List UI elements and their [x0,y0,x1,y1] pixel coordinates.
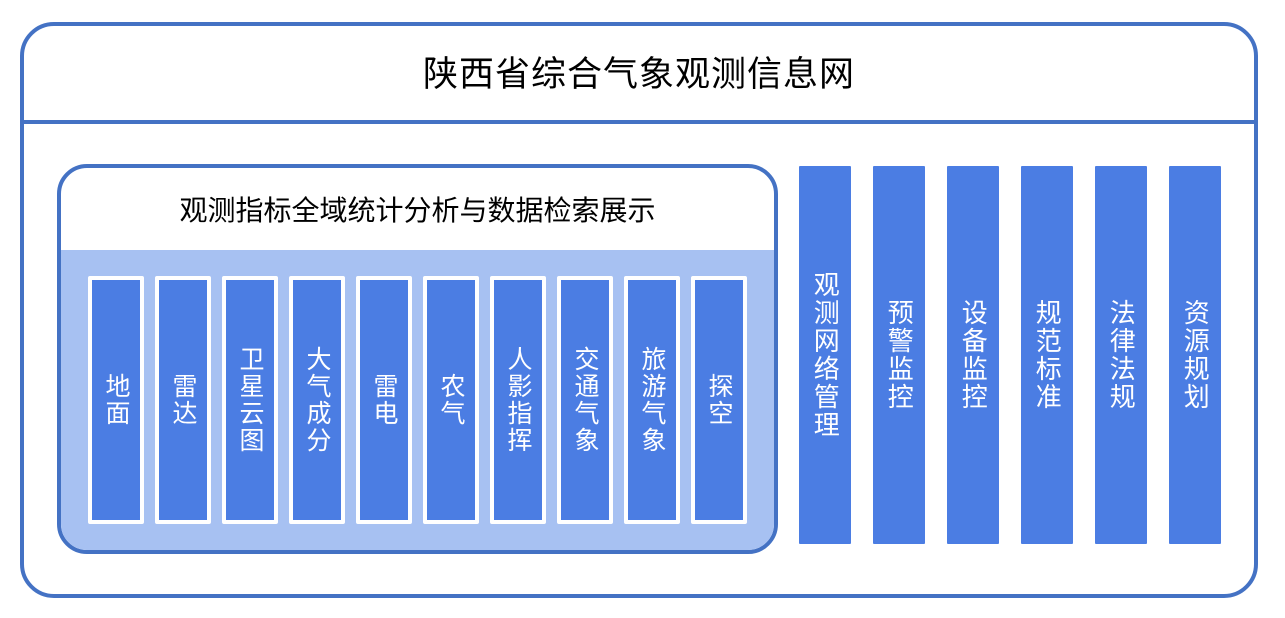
support-module-specification-standards[interactable]: 规范标准 [1021,166,1073,544]
observation-item-upper-air-sounding[interactable]: 探空 [691,276,747,524]
support-module-label: 设备监控 [959,299,988,411]
support-module-label: 观测网络管理 [811,271,840,439]
observation-analysis-panel: 观测指标全域统计分析与数据检索展示 地面 雷达 卫星云图 大气成分 雷电 农气 … [57,164,778,554]
observation-item-label: 人影指挥 [504,346,532,454]
observation-item-ground[interactable]: 地面 [88,276,144,524]
observation-item-label: 农气 [437,373,465,427]
support-modules-container: 观测网络管理 预警监控 设备监控 规范标准 法律法规 资源规划 [799,166,1221,544]
support-module-label: 规范标准 [1033,299,1062,411]
support-module-observation-network-management[interactable]: 观测网络管理 [799,166,851,544]
support-module-label: 资源规划 [1181,299,1210,411]
support-module-laws-and-regulations[interactable]: 法律法规 [1095,166,1147,544]
observation-item-transport-meteorology[interactable]: 交通气象 [557,276,613,524]
observation-item-weather-modification-command[interactable]: 人影指挥 [490,276,546,524]
observation-item-label: 大气成分 [303,346,331,454]
observation-item-label: 旅游气象 [638,346,666,454]
observation-item-satellite-cloud-map[interactable]: 卫星云图 [222,276,278,524]
page-title: 陕西省综合气象观测信息网 [20,22,1258,120]
observation-item-label: 雷达 [169,373,197,427]
panel-title: 观测指标全域统计分析与数据检索展示 [61,168,774,250]
support-module-label: 预警监控 [885,299,914,411]
observation-item-agrometeorology[interactable]: 农气 [423,276,479,524]
support-module-resource-planning[interactable]: 资源规划 [1169,166,1221,544]
observation-item-lightning[interactable]: 雷电 [356,276,412,524]
title-divider [20,120,1258,124]
observation-item-label: 卫星云图 [236,346,264,454]
observation-item-label: 雷电 [370,373,398,427]
observation-item-label: 地面 [102,373,130,427]
support-module-equipment-monitoring[interactable]: 设备监控 [947,166,999,544]
observation-item-label: 探空 [705,373,733,427]
diagram-canvas: 陕西省综合气象观测信息网 观测指标全域统计分析与数据检索展示 地面 雷达 卫星云… [0,0,1285,618]
observation-item-radar[interactable]: 雷达 [155,276,211,524]
observation-item-tourism-meteorology[interactable]: 旅游气象 [624,276,680,524]
support-module-warning-monitoring[interactable]: 预警监控 [873,166,925,544]
panel-items-container: 地面 雷达 卫星云图 大气成分 雷电 农气 人影指挥 交通气象 [61,250,774,550]
support-module-label: 法律法规 [1107,299,1136,411]
observation-item-atmospheric-composition[interactable]: 大气成分 [289,276,345,524]
observation-item-label: 交通气象 [571,346,599,454]
